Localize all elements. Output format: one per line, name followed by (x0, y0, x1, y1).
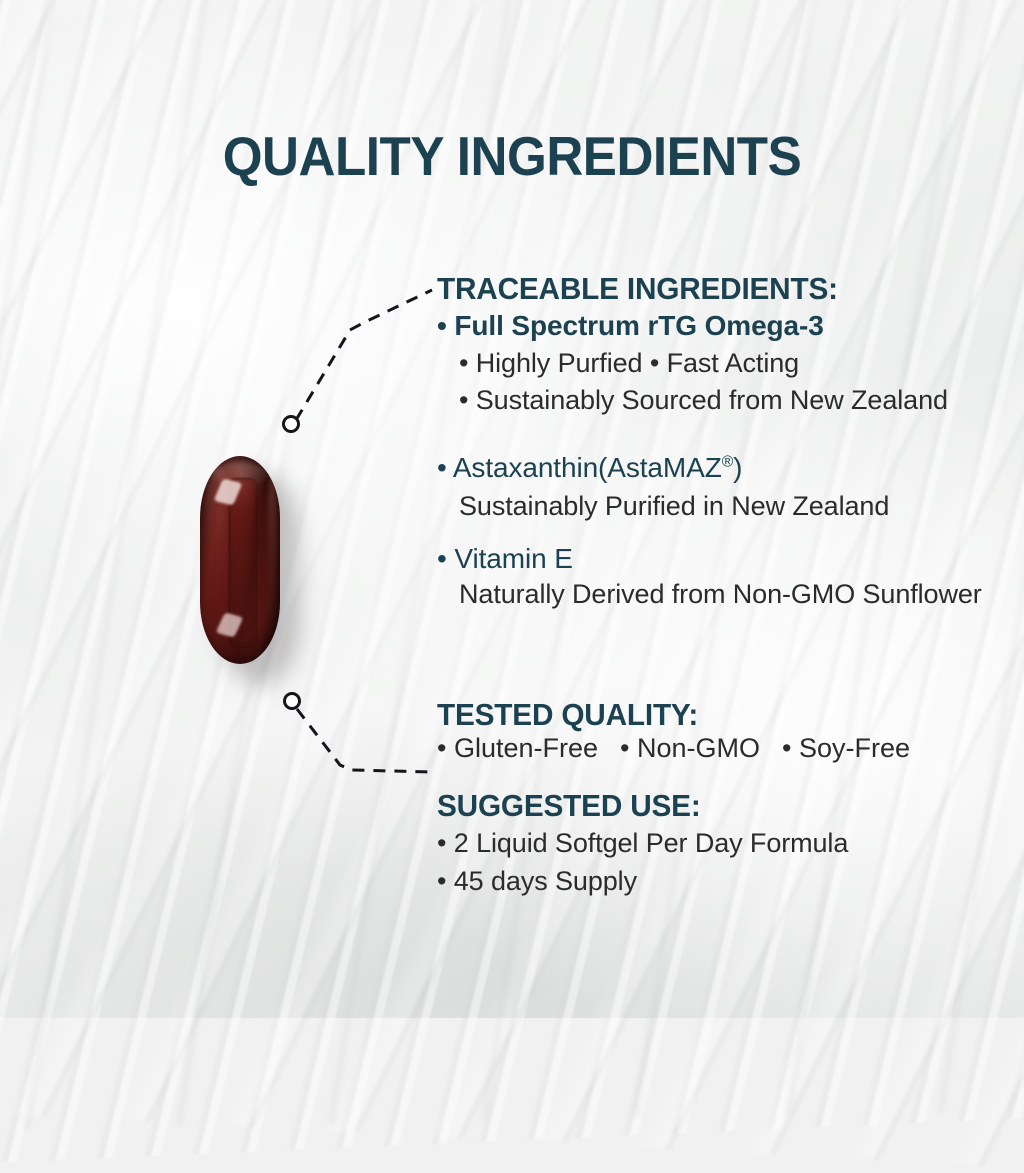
capsule-right-rim-light (268, 470, 277, 652)
subline-naturally-derived: Naturally Derived from Non-GMO Sunflower (437, 579, 982, 610)
section-traceable-ingredients: TRACEABLE INGREDIENTS: (437, 271, 855, 307)
tested-quality-items: • Gluten-Free• Non-GMO• Soy-Free (437, 733, 910, 764)
subline-sustainably-sourced: • Sustainably Sourced from New Zealand (437, 385, 948, 416)
section-tested-quality: TESTED QUALITY: (437, 697, 709, 733)
bullet-vitamin-e: • Vitamin E (437, 543, 573, 575)
bullet-astaxanthin: • Astaxanthin(AstaMAZ®) (437, 452, 742, 484)
subline-text: Naturally Derived from Non-GMO Sunflower (437, 579, 982, 610)
subline-text: • 2 Liquid Softgel Per Day Formula (437, 828, 848, 859)
astaxanthin-prefix: • Astaxanthin(AstaMAZ (437, 452, 722, 483)
badge-gluten-free: • Gluten-Free (437, 733, 598, 763)
page-title: QUALITY INGREDIENTS (36, 124, 988, 188)
suggested-use-line-2: • 45 days Supply (437, 866, 637, 897)
badge-soy-free: • Soy-Free (782, 733, 910, 763)
bullet-full-spectrum: • Full Spectrum rTG Omega-3 (437, 310, 824, 342)
section-heading-tested-quality: TESTED QUALITY: (437, 697, 698, 733)
bullet-label-full-spectrum: • Full Spectrum rTG Omega-3 (437, 310, 824, 342)
capsule-body (200, 456, 280, 664)
tested-quality-row: • Gluten-Free• Non-GMO• Soy-Free (437, 733, 910, 764)
bullet-label-astaxanthin: • Astaxanthin(AstaMAZ®) (437, 452, 742, 484)
registered-trademark-icon: ® (722, 454, 733, 471)
bullet-label-vitamin-e: • Vitamin E (437, 543, 573, 575)
suggested-use-line-1: • 2 Liquid Softgel Per Day Formula (437, 828, 848, 859)
subline-sustainably-purified: Sustainably Purified in New Zealand (437, 491, 889, 522)
subline-highly-purfied: • Highly Purfied • Fast Acting (437, 348, 799, 379)
section-heading-suggested-use: SUGGESTED USE: (437, 788, 701, 824)
subline-text: • 45 days Supply (437, 866, 637, 897)
subline-text: Sustainably Purified in New Zealand (437, 491, 889, 522)
product-capsule (198, 452, 316, 682)
section-heading-traceable: TRACEABLE INGREDIENTS: (437, 271, 838, 307)
astaxanthin-suffix: ) (733, 452, 742, 483)
section-suggested-use: SUGGESTED USE: (437, 788, 712, 824)
subline-text: • Sustainably Sourced from New Zealand (437, 385, 948, 416)
subline-text: • Highly Purfied • Fast Acting (437, 348, 799, 379)
badge-non-gmo: • Non-GMO (620, 733, 760, 763)
